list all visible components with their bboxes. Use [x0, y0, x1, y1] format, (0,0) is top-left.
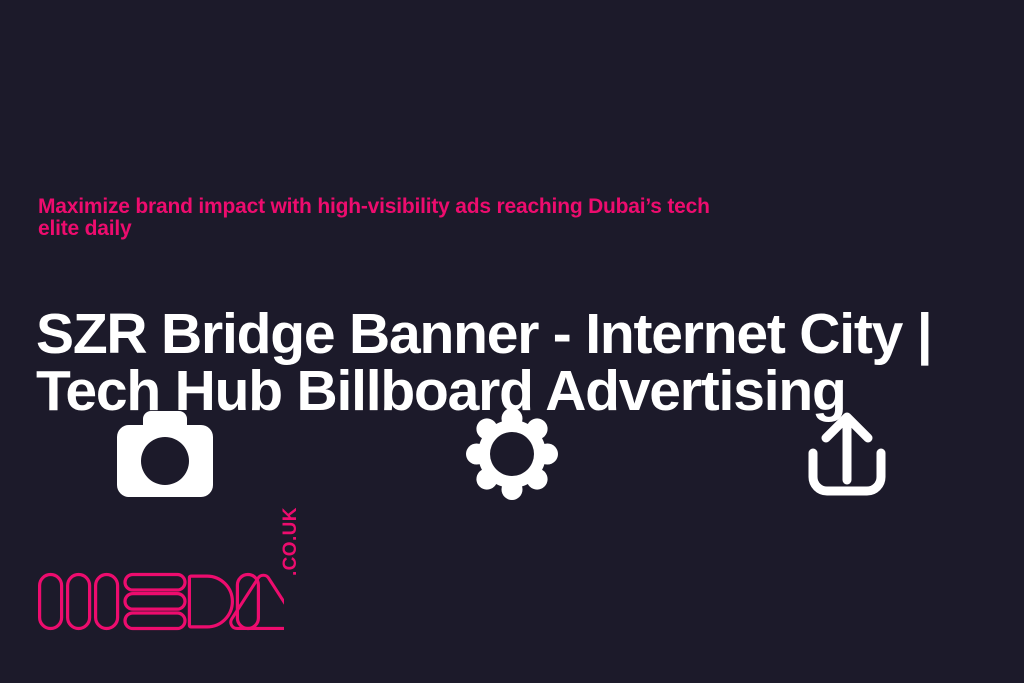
logo-tld-label: .CO.UK — [280, 507, 302, 576]
promo-banner: Maximize brand impact with high-visibili… — [0, 0, 1024, 683]
site-logo[interactable]: .CO.UK — [34, 560, 296, 642]
camera-icon — [117, 411, 213, 497]
banner-tagline: Maximize brand impact with high-visibili… — [38, 196, 718, 239]
upload-icon — [803, 410, 891, 498]
upload-icon-slot — [791, 398, 903, 510]
gear-icon-slot — [456, 398, 568, 510]
gear-icon — [466, 408, 558, 500]
camera-icon-slot — [109, 398, 221, 510]
feature-icon-row — [0, 398, 1024, 510]
